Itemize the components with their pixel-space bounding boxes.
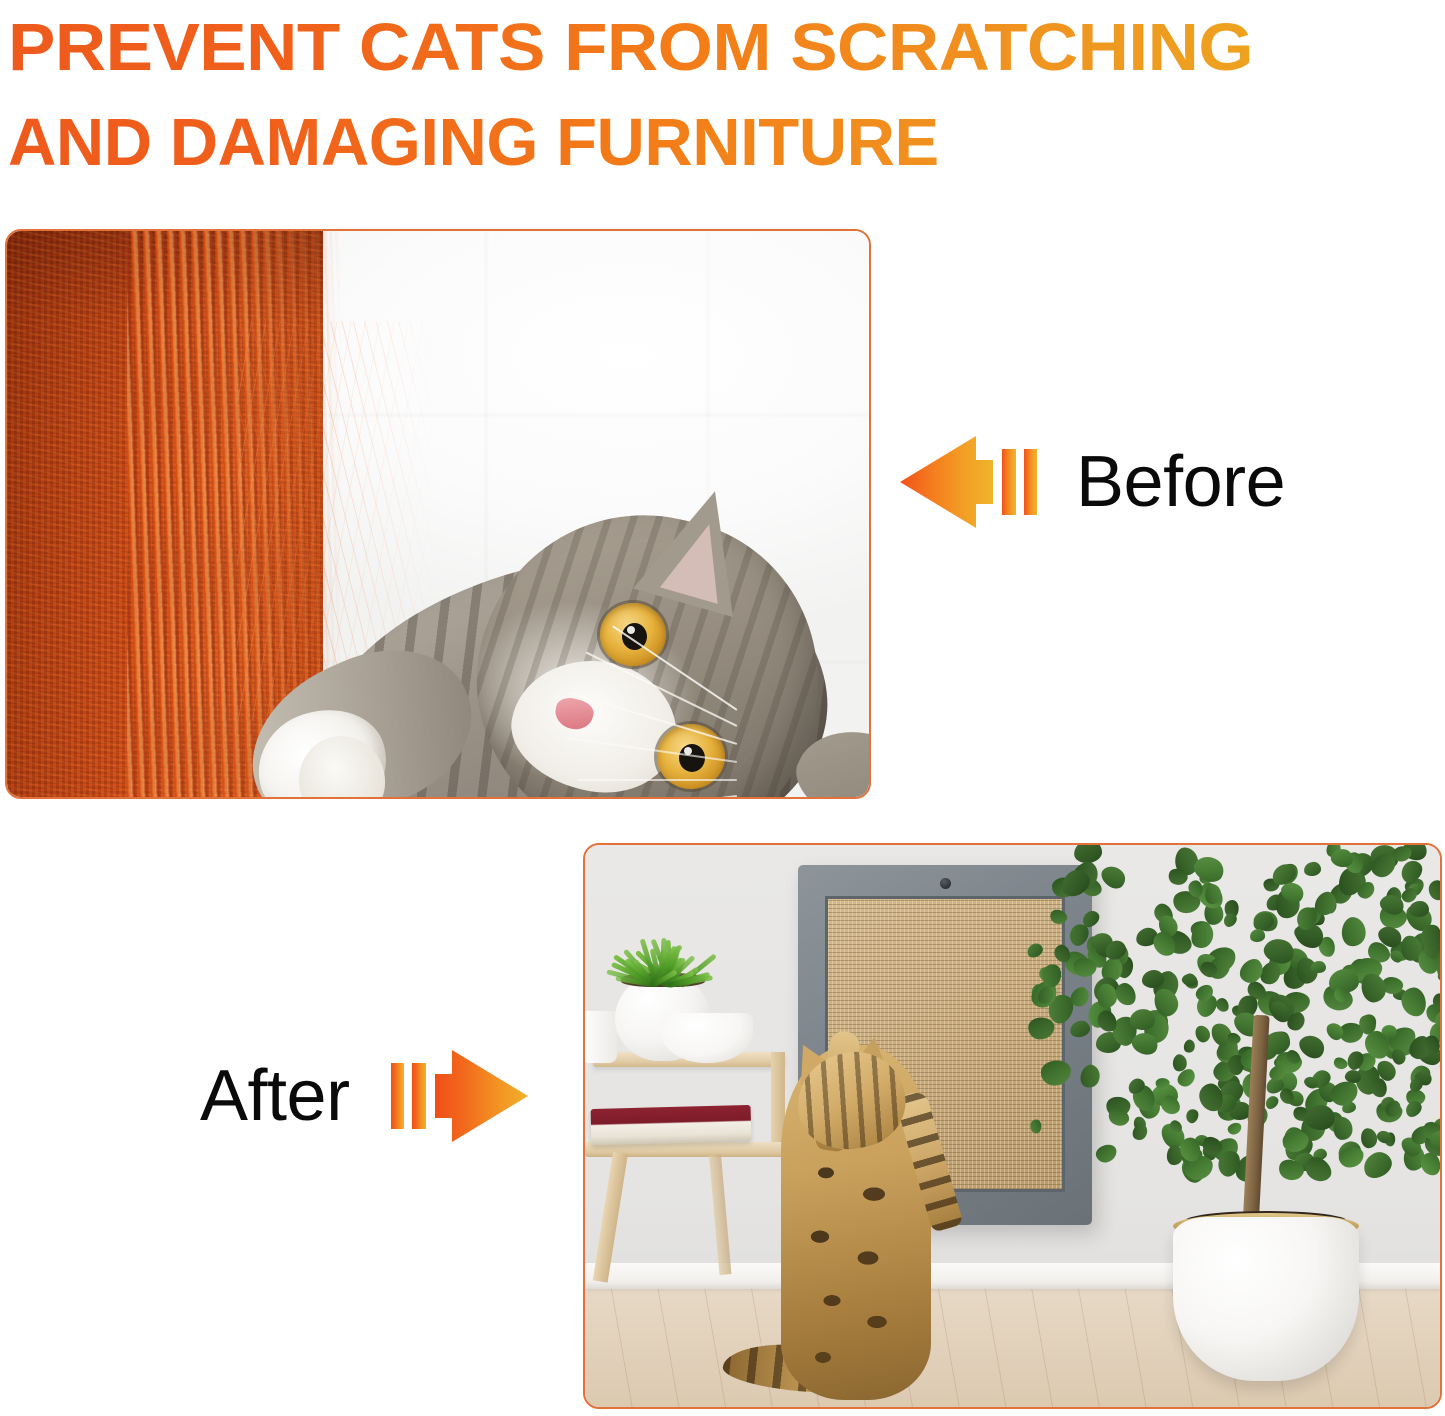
tree-leaf (1370, 1078, 1387, 1098)
tree-leaf (1437, 845, 1440, 861)
tree-leaf (1183, 1107, 1200, 1125)
after-callout: After (200, 1046, 530, 1146)
tree-leaf (1048, 907, 1069, 927)
tree-leaf (1333, 1117, 1353, 1141)
after-label: After (200, 1060, 350, 1132)
before-cat-whiskers (437, 691, 757, 797)
after-scene (585, 845, 1440, 1407)
tree-leaf (1077, 1062, 1103, 1090)
ficus-white-pot (1173, 1217, 1359, 1381)
tree-leaf (1041, 1060, 1072, 1086)
ficus-tree-canopy (1025, 845, 1440, 1163)
whisker (567, 737, 738, 763)
headline-line-2: AND DAMAGING FURNITURE (8, 95, 1445, 190)
before-callout: Before (898, 432, 1285, 532)
tree-leaf (1339, 916, 1367, 949)
tree-leaf (1030, 1119, 1042, 1133)
succulent-plant (609, 907, 721, 985)
headline: PREVENT CATS FROM SCRATCHING AND DAMAGIN… (8, 0, 1445, 190)
before-label: Before (1076, 446, 1285, 518)
tree-leaf (1027, 1017, 1055, 1040)
whisker (568, 692, 737, 745)
after-arrow-right-icon (388, 1046, 530, 1146)
before-arrow-left-icon (898, 432, 1040, 532)
tree-leaf (1182, 1038, 1197, 1054)
tree-leaf (1098, 861, 1130, 893)
tree-leaf (1303, 861, 1321, 876)
tree-leaf (1194, 1024, 1212, 1044)
tree-leaf (1409, 901, 1429, 918)
tree-leaf (1094, 1143, 1119, 1165)
headline-line-1: PREVENT CATS FROM SCRATCHING (8, 0, 1445, 95)
tree-leaf (1069, 1019, 1091, 1038)
before-cat-eye-glint-left (627, 626, 635, 634)
tree-leaf (1359, 972, 1386, 1004)
tree-leaf (1429, 880, 1440, 901)
whisker (577, 779, 737, 781)
after-photo (583, 843, 1442, 1409)
white-cup (585, 1011, 617, 1063)
before-photo (5, 229, 871, 799)
red-book (591, 1105, 752, 1145)
tree-leaf (1025, 941, 1045, 960)
before-scene (7, 231, 869, 797)
tree-leaf (1227, 1121, 1243, 1136)
mounting-screw-icon (940, 878, 951, 889)
tree-leaf (1361, 1128, 1378, 1148)
whisker (592, 795, 737, 797)
